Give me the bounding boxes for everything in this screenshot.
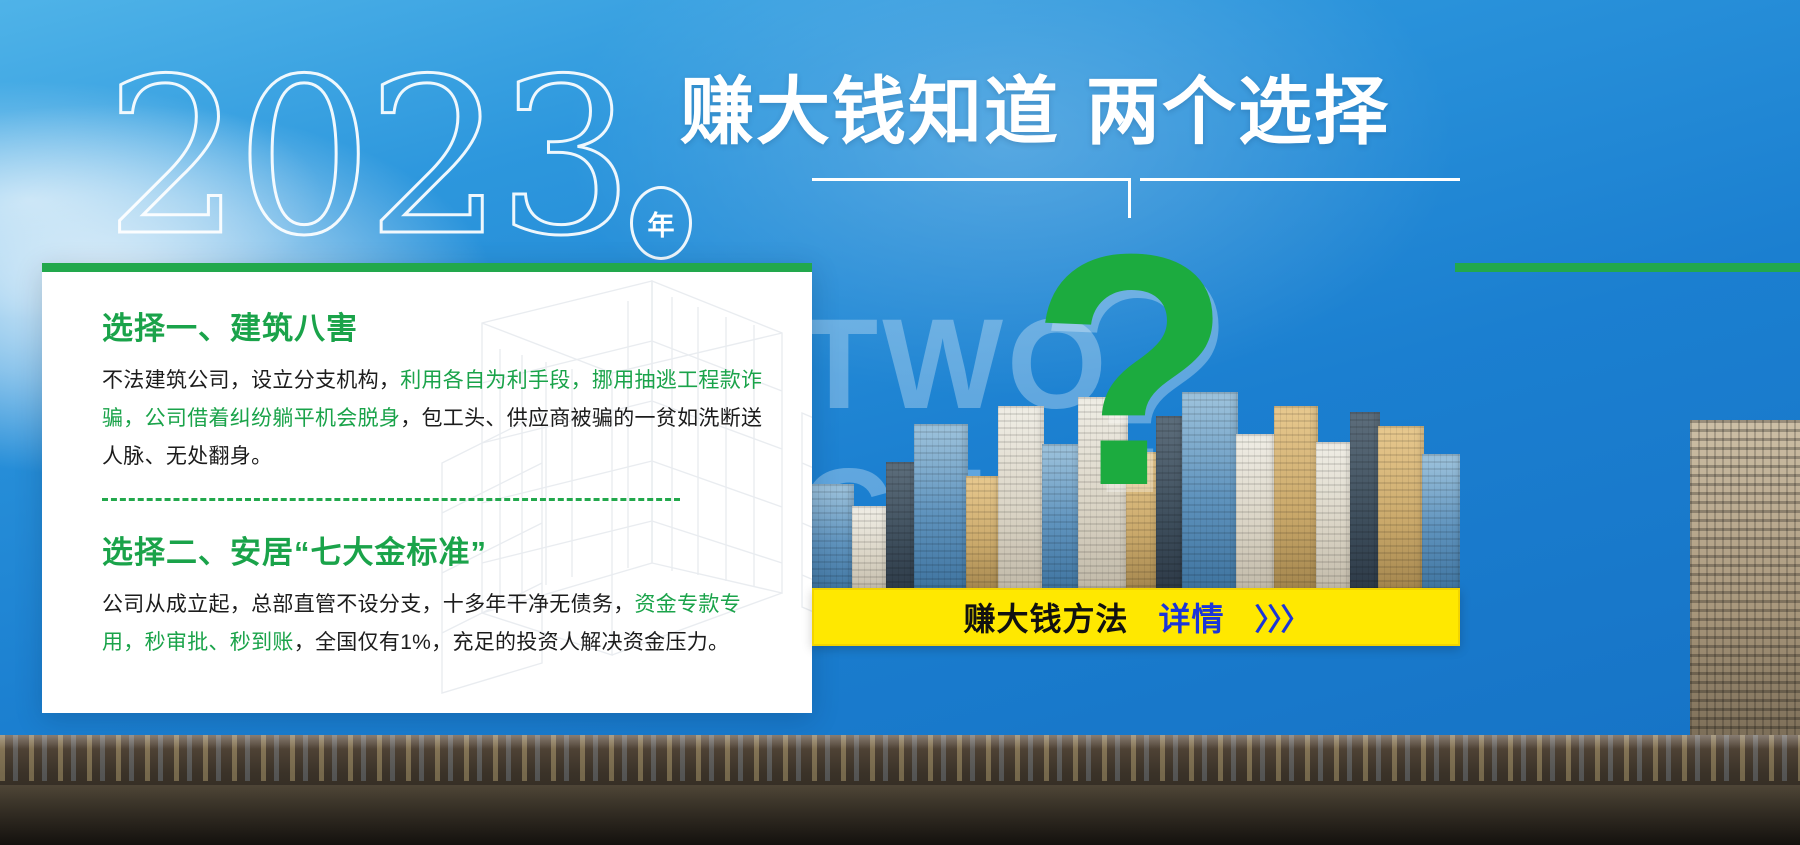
year-suffix-badge: 年: [630, 186, 692, 260]
page-title: 赚大钱知道两个选择: [680, 75, 1390, 149]
section-1-text: 不法建筑公司，设立分支机构，利用各自为利手段，挪用抽逃工程款诈骗，公司借着纠纷躺…: [102, 362, 782, 476]
chevron-right-icon: 〉〉〉: [1255, 595, 1309, 639]
card-body: 选择一、建筑八害 不法建筑公司，设立分支机构，利用各自为利手段，挪用抽逃工程款诈…: [102, 303, 792, 662]
strip-gloss: [0, 735, 1800, 749]
year-block: 2023 年: [105, 58, 725, 268]
section-2-text: 公司从成立起，总部直管不设分支，十多年干净无债务，资金专款专用，秒审批、秒到账，…: [102, 586, 782, 662]
cta-main-label: 赚大钱方法: [963, 594, 1128, 640]
bottom-photo-strip: [0, 735, 1800, 845]
headline-rule-right: [1140, 178, 1460, 181]
right-building-silhouette: [1690, 420, 1800, 735]
headline-left: 赚大钱知道: [680, 70, 1060, 153]
poster-stage: TWO CHOICES ? 20: [0, 0, 1800, 845]
question-mark-graphic: ?: [1030, 205, 1226, 535]
headline-right: 两个选择: [1086, 70, 1390, 153]
content-card: 选择一、建筑八害 不法建筑公司，设立分支机构，利用各自为利手段，挪用抽逃工程款诈…: [42, 263, 812, 713]
cta-detail-link[interactable]: 详情: [1159, 594, 1225, 640]
section-divider: [102, 498, 680, 501]
green-rule-right: [1455, 263, 1800, 272]
section-1-title: 选择一、建筑八害: [102, 303, 792, 348]
section-2-title: 选择二、安居“七大金标准”: [102, 527, 792, 572]
section-1-text-part-0: 不法建筑公司，设立分支机构，: [102, 369, 400, 392]
headline-rule-left: [812, 178, 1128, 181]
section-2-text-part-2: ，全国仅有1%，充足的投资人解决资金压力。: [294, 631, 730, 654]
cta-banner[interactable]: 赚大钱方法 详情 〉〉〉: [812, 588, 1460, 646]
section-2-text-part-0: 公司从成立起，总部直管不设分支，十多年干净无债务，: [102, 593, 635, 616]
card-top-accent-bar: [42, 263, 812, 272]
